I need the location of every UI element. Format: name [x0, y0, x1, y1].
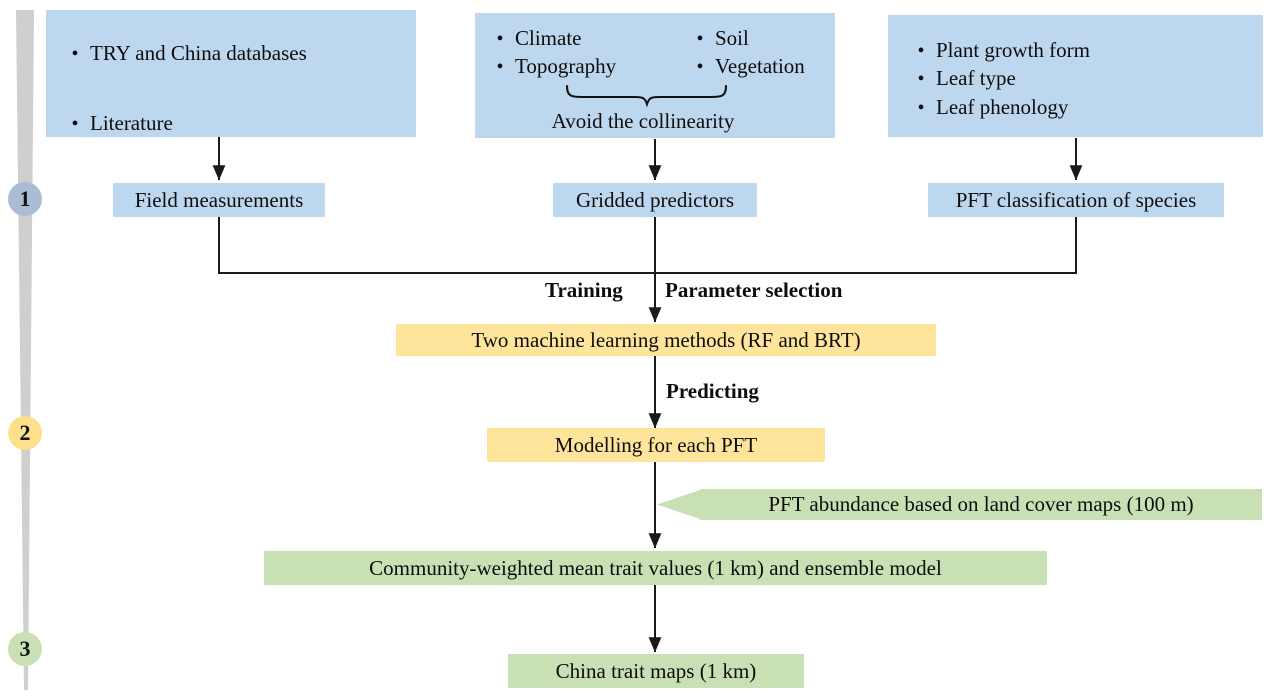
stage-marker-2: 2: [8, 416, 42, 450]
modelling-per-pft-label: Modelling for each PFT: [555, 432, 757, 458]
flowchart-canvas: 1 2 3 • TRY and China databases • Litera…: [0, 0, 1277, 699]
data-sources-box: • TRY and China databases • Literature: [46, 10, 416, 137]
stage-marker-3-label: 3: [20, 636, 31, 662]
predictor-variables-box: • Climate • Soil • Topography • Vegetati…: [475, 13, 835, 138]
china-trait-maps-label: China trait maps (1 km): [556, 658, 757, 684]
list-item: • Vegetation: [685, 53, 835, 79]
gridded-predictors-node: Gridded predictors: [553, 183, 757, 217]
bullet-icon: •: [906, 98, 936, 118]
predictor-bullet-soil: Soil: [715, 25, 749, 51]
list-item: • Climate: [485, 25, 685, 51]
stage-marker-1-label: 1: [20, 186, 31, 212]
ml-methods-node: Two machine learning methods (RF and BRT…: [396, 324, 936, 356]
field-measurements-label: Field measurements: [135, 187, 304, 213]
pft-attr-bullet-2: Leaf phenology: [936, 94, 1068, 120]
list-item: • Literature: [60, 110, 416, 136]
cwm-traits-label: Community-weighted mean trait values (1 …: [369, 555, 942, 581]
pft-attr-bullet-0: Plant growth form: [936, 37, 1090, 63]
pft-classification-label: PFT classification of species: [956, 187, 1197, 213]
predictor-bullet-topography: Topography: [515, 53, 616, 79]
predictor-grid: • Climate • Soil • Topography • Vegetati…: [485, 25, 835, 80]
pft-abundance-label: PFT abundance based on land cover maps (…: [768, 491, 1193, 517]
bullet-icon: •: [685, 29, 715, 49]
pft-attributes-box: • Plant growth form • Leaf type • Leaf p…: [888, 15, 1263, 137]
list-item: • Soil: [685, 25, 835, 51]
ml-methods-label: Two machine learning methods (RF and BRT…: [471, 327, 860, 353]
stage-marker-1: 1: [8, 182, 42, 216]
data-sources-bullet-0: TRY and China databases: [90, 40, 307, 66]
stage-spine: [16, 10, 34, 690]
predictor-bullet-vegetation: Vegetation: [715, 53, 805, 79]
bullet-icon: •: [60, 44, 90, 64]
stage-marker-2-label: 2: [20, 420, 31, 446]
pft-classification-node: PFT classification of species: [928, 183, 1224, 217]
pft-abundance-node: PFT abundance based on land cover maps (…: [700, 489, 1262, 520]
collinearity-brace-wrap: [475, 82, 835, 108]
bullet-icon: •: [906, 41, 936, 61]
parameter-selection-edge-label: Parameter selection: [665, 278, 842, 303]
cwm-traits-node: Community-weighted mean trait values (1 …: [264, 551, 1047, 585]
list-item: • Leaf phenology: [906, 94, 1263, 120]
field-measurements-node: Field measurements: [113, 183, 325, 217]
list-item: • Plant growth form: [906, 37, 1263, 63]
predictor-bullet-climate: Climate: [515, 25, 582, 51]
pft-attr-bullet-1: Leaf type: [936, 65, 1016, 91]
bullet-icon: •: [485, 29, 515, 49]
modelling-per-pft-node: Modelling for each PFT: [487, 428, 825, 462]
list-item: • Topography: [485, 53, 685, 79]
predicting-edge-label: Predicting: [666, 379, 759, 404]
stage-marker-3: 3: [8, 632, 42, 666]
bullet-icon: •: [485, 57, 515, 77]
bullet-icon: •: [906, 69, 936, 89]
china-trait-maps-node: China trait maps (1 km): [508, 654, 804, 688]
list-item: • TRY and China databases: [60, 40, 416, 66]
bullet-icon: •: [685, 57, 715, 77]
training-edge-label: Training: [545, 278, 623, 303]
gridded-predictors-label: Gridded predictors: [576, 187, 734, 213]
curly-brace-icon: [475, 82, 835, 108]
list-item: • Leaf type: [906, 65, 1263, 91]
collinearity-caption: Avoid the collinearity: [475, 108, 835, 134]
bullet-icon: •: [60, 114, 90, 134]
arrow-abundance-into-column: [657, 490, 700, 519]
data-sources-bullet-1: Literature: [90, 110, 173, 136]
